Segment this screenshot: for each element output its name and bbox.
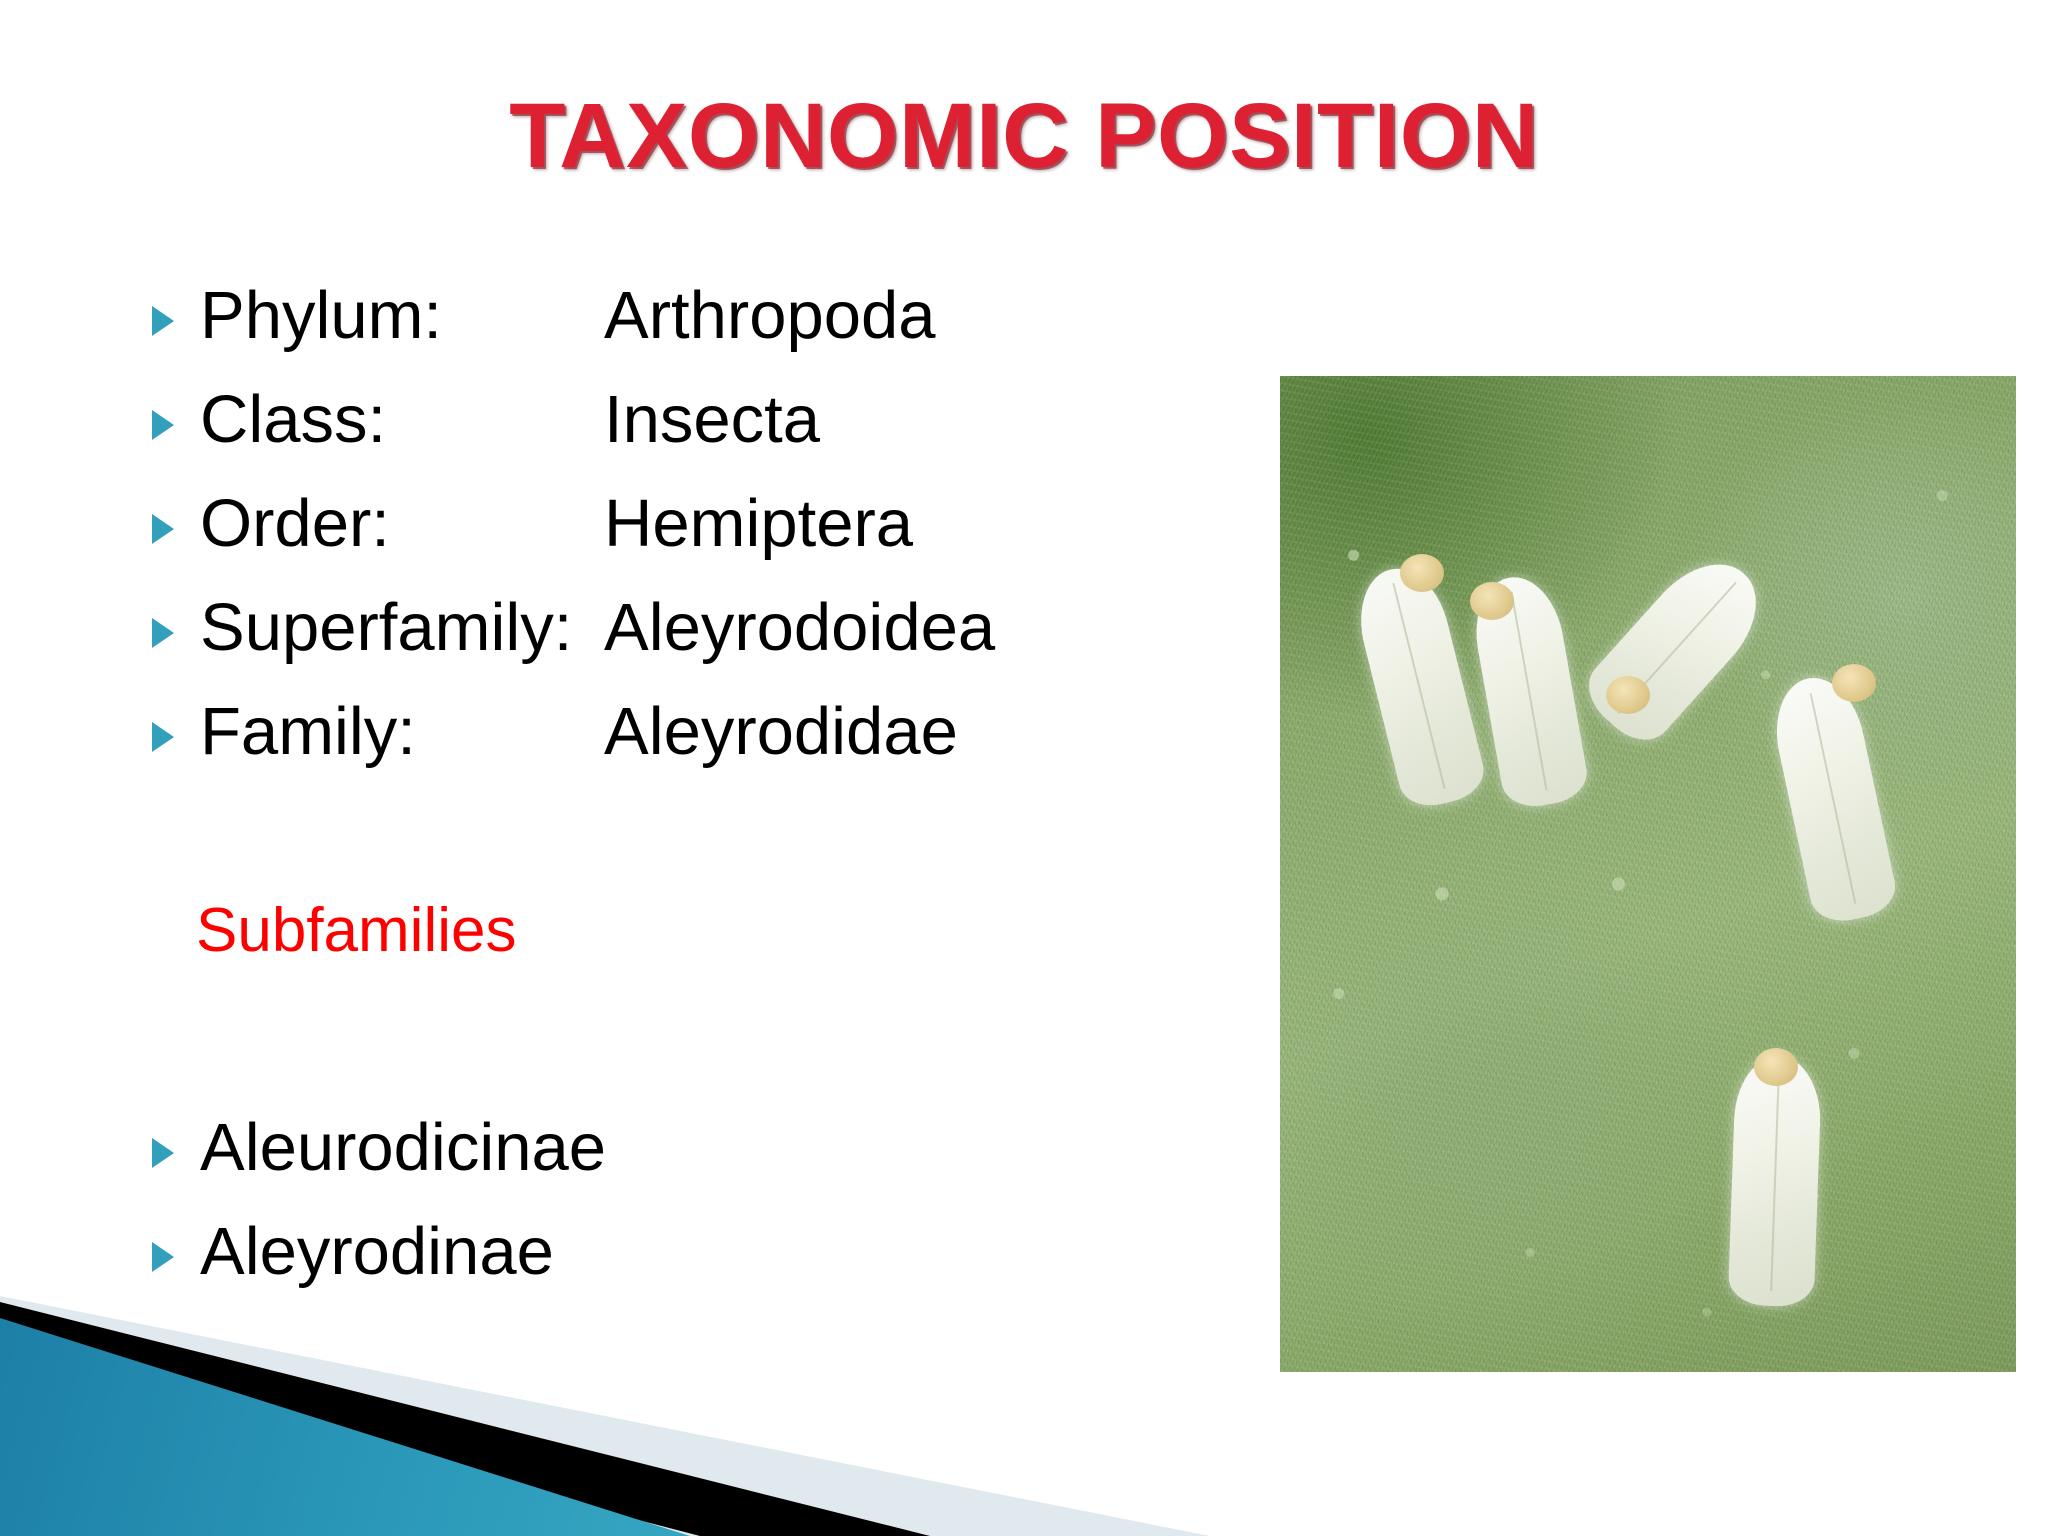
taxonomy-rank-value: Aleyrodidae [604,698,958,765]
triangle-bullet-icon [152,510,176,540]
list-item: Order: Hemiptera [152,490,1232,594]
taxonomy-rank-value: Insecta [604,386,820,453]
whitefly-head-icon [1400,554,1444,592]
whitefly-photo [1280,376,2016,1372]
list-item: Class: Insecta [152,386,1232,490]
decoration-black-band [0,1296,1260,1536]
whitefly-head-icon [1606,676,1650,714]
slide: TAXONOMIC POSITION Phylum: Arthropoda Cl… [0,0,2048,1536]
decoration-teal-triangle [0,1296,1260,1536]
decoration-pale-band [0,1296,1260,1536]
taxonomy-rank-value: Hemiptera [604,490,913,557]
list-item: Family: Aleyrodidae [152,698,1232,802]
corner-decoration [0,1296,1260,1536]
taxonomy-rank-value: Arthropoda [604,282,936,349]
triangle-bullet-icon [152,1134,176,1164]
triangle-bullet-icon [152,406,176,436]
taxonomy-rank-label: Class: [200,386,604,453]
page-title: TAXONOMIC POSITION [0,88,2048,185]
list-item: Aleyrodinae [152,1218,1152,1322]
whitefly-head-icon [1754,1048,1798,1086]
taxonomy-list: Phylum: Arthropoda Class: Insecta Order:… [152,282,1232,802]
triangle-bullet-icon [152,614,176,644]
subfamilies-list: Aleurodicinae Aleyrodinae [152,1114,1152,1322]
whitefly-icon [1728,1055,1823,1308]
list-item: Superfamily: Aleyrodoidea [152,594,1232,698]
whitefly-head-icon [1832,664,1876,702]
triangle-bullet-icon [152,302,176,332]
triangle-bullet-icon [152,1238,176,1268]
taxonomy-rank-label: Order: [200,490,604,557]
taxonomy-rank-label: Phylum: [200,282,604,349]
list-item: Aleurodicinae [152,1114,1152,1218]
subfamily-name: Aleyrodinae [200,1218,554,1285]
leaf-speckles [1280,376,2016,1372]
taxonomy-rank-label: Superfamily: [200,594,604,661]
triangle-bullet-icon [152,718,176,748]
taxonomy-rank-label: Family: [200,698,604,765]
whitefly-head-icon [1470,582,1514,620]
subfamilies-heading: Subfamilies [196,900,516,962]
taxonomy-rank-value: Aleyrodoidea [604,594,995,661]
list-item: Phylum: Arthropoda [152,282,1232,386]
subfamily-name: Aleurodicinae [200,1114,606,1181]
